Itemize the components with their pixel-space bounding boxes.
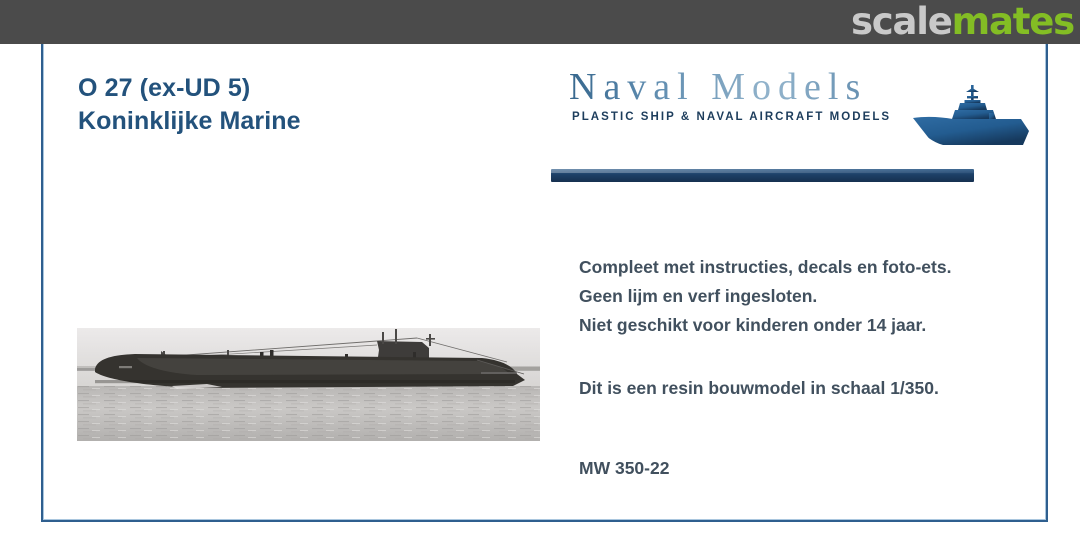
product-title-line-1: O 27 (ex-UD 5) — [78, 72, 301, 105]
description-line-2: Geen lijm en verf ingesloten. — [579, 282, 951, 311]
submarine-photo — [77, 328, 540, 441]
description-block-1: Compleet met instructies, decals en foto… — [579, 253, 951, 340]
product-title-line-2: Koninklijke Marine — [78, 105, 301, 138]
product-code-block: MW 350-22 — [579, 454, 669, 483]
brand-logo: Naval Models PLASTIC SHIP & NAVAL AIRCRA… — [551, 65, 1011, 123]
submarine-photo-image — [77, 328, 540, 441]
warship-silhouette-icon — [903, 79, 1053, 174]
page-title: O 27 (ex-UD 5) Koninklijke Marine — [78, 72, 301, 137]
watermark-bar: scalemates — [0, 0, 1080, 44]
product-card: O 27 (ex-UD 5) Koninklijke Marine Naval … — [41, 26, 1048, 522]
watermark-text-mates: mates — [952, 0, 1074, 43]
product-code: MW 350-22 — [579, 454, 669, 483]
scalemates-watermark: scalemates — [851, 2, 1074, 42]
description-line-3: Niet geschikt voor kinderen onder 14 jaa… — [579, 311, 951, 340]
description-block-2: Dit is een resin bouwmodel in schaal 1/3… — [579, 374, 939, 403]
description-line-1: Compleet met instructies, decals en foto… — [579, 253, 951, 282]
description-line-4: Dit is een resin bouwmodel in schaal 1/3… — [579, 374, 939, 403]
watermark-text-scale: scale — [851, 0, 952, 43]
